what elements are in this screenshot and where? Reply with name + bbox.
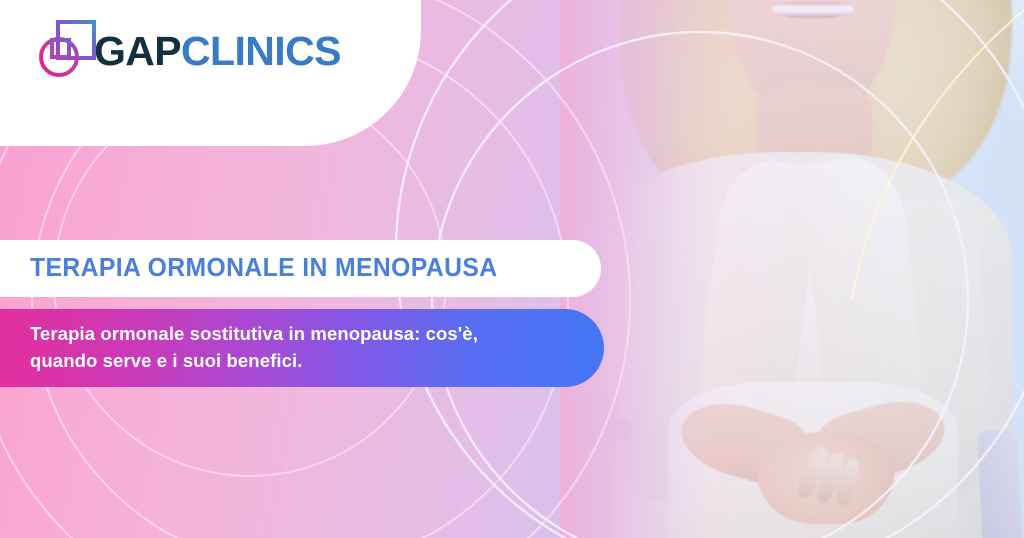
subtitle-bar: Terapia ormonale sostitutiva in menopaus… xyxy=(0,309,604,387)
brand-logo[interactable]: GAPCLINICS xyxy=(32,14,341,84)
page-title: TERAPIA ORMONALE IN MENOPAUSA xyxy=(30,254,497,283)
brand-wordmark: GAPCLINICS xyxy=(94,31,341,72)
subtitle-text: Terapia ormonale sostitutiva in menopaus… xyxy=(30,321,478,374)
promo-banner: GAPCLINICS TERAPIA ORMONALE IN MENOPAUSA… xyxy=(0,0,1024,538)
brand-name-gap: GAP xyxy=(94,28,181,74)
overlapping-circle-square-icon xyxy=(32,14,104,84)
hero-photo xyxy=(560,0,1024,538)
title-pill: TERAPIA ORMONALE IN MENOPAUSA xyxy=(0,240,601,297)
brand-name-clinics: CLINICS xyxy=(181,28,341,74)
logo-panel: GAPCLINICS xyxy=(0,0,421,146)
